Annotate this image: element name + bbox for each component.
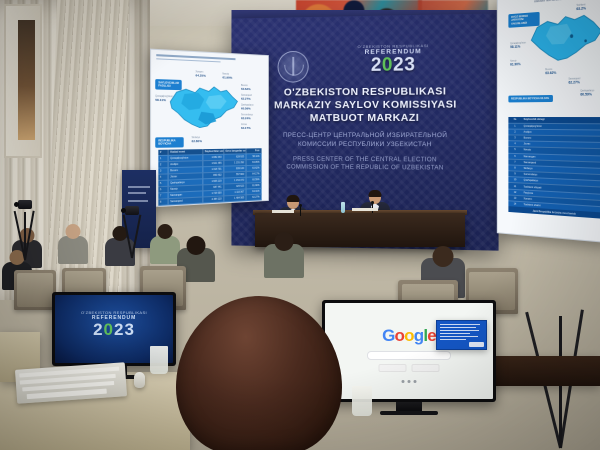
left-screen-results-table: # Hudud nomi Saylovchilar soni Ovoz berg… (158, 148, 261, 207)
left-map-pct-4: Samarqand62.27% (241, 95, 252, 101)
right-table-header: № Saylovoldi okrugi (508, 117, 600, 123)
feeling-lucky-button[interactable] (412, 364, 440, 372)
google-homepage-monitor[interactable]: Google (322, 300, 496, 402)
right-map-pct-1: Qoraqalpog'iston58.11% (510, 42, 526, 49)
google-buttons[interactable] (379, 364, 440, 372)
google-homepage: Google (325, 303, 493, 399)
audience-person-7-head (433, 246, 454, 267)
audience-person-5-head (275, 232, 294, 251)
right-screen-tag-status: OVOZ BERISH JARAYONI YAKUNLANDI (508, 12, 539, 28)
shortcut-icons[interactable] (402, 380, 417, 383)
referendum-screen-logo: O'ZBEKISTON RESPUBLIKASI REFERENDUM 2023 (55, 310, 173, 339)
backdrop-subtitle-ru-1: ПРЕСС-ЦЕНТР ЦЕНТРАЛЬНОЙ ИЗБИРАТЕЛЬНОЙ (251, 132, 482, 141)
right-map-pct-4: Samarqand62.27% (568, 78, 580, 84)
browser-dialog[interactable] (436, 320, 487, 350)
left-map-pct-5: Qashqadaryo60.59% (241, 105, 254, 111)
right-map-pct-0: Toshkent63.2% (576, 4, 586, 11)
drinking-cup (150, 346, 168, 374)
search-input[interactable] (367, 351, 451, 360)
google-search-button[interactable] (379, 364, 407, 372)
shortcut-icon[interactable] (414, 380, 417, 383)
referendum-logo: O'ZBEKISTON RESPUBLIKASI REFERENDUM 2023 (350, 43, 437, 75)
audience-chair (14, 270, 56, 310)
video-camera-tripod-left (14, 200, 36, 260)
backdrop-subtitle-russian: ПРЕСС-ЦЕНТР ЦЕНТРАЛЬНОЙ ИЗБИРАТЕЛЬНОЙ КО… (251, 132, 482, 150)
right-map-pct-2: Navoiy61.90% (510, 60, 520, 66)
video-camera-tripod-center (122, 206, 142, 258)
shortcut-icon[interactable] (402, 380, 405, 383)
backdrop-subtitle-english: PRESS CENTER OF THE CENTRAL ELECTION COM… (251, 156, 482, 174)
drinking-cup-right (352, 386, 372, 416)
left-map-pct-2: Navoiy61.90% (222, 73, 232, 79)
backdrop-title-line-2: MARKAZIY SAYLOV KOMISSIYASI (245, 98, 488, 112)
documents-on-table-right (352, 208, 378, 211)
left-map-pct-7: Jizzax64.17% (241, 124, 251, 130)
left-projection-screen: Qoraqalpog'iston58.11% Xorazm64.25% Navo… (150, 49, 269, 208)
right-screen-header: UMUMIY NATIJALAR (534, 0, 562, 3)
monitor-logo-top: O'ZBEKISTON RESPUBLIKASI (55, 310, 173, 315)
foreground-person-hair (176, 296, 342, 450)
press-conference-photo: O'ZBEKISTON RESPUBLIKASI REFERENDUM 2023… (0, 0, 600, 450)
left-map-pct-3: Buxoro63.62% (241, 85, 251, 91)
monitor-panel: Google (325, 303, 493, 399)
dialog-ok-button[interactable] (469, 342, 484, 347)
right-screen-region-table: № Saylovoldi okrugi 1Qoraqalpog'iston 2A… (508, 117, 600, 219)
right-screen-tag-republic-result: RESPUBLIKA BO'YICHA 62.34% (508, 95, 553, 103)
foreground-person (176, 296, 342, 450)
backdrop-subtitle-ru-2: КОМИССИИ РЕСПУБЛИКИ УЗБЕКИСТАН (251, 140, 482, 149)
cec-emblem-icon (278, 51, 309, 83)
backdrop-title-line-1: O'ZBEKISTON RESPUBLIKASI (245, 85, 488, 100)
monitor-base (380, 411, 438, 415)
audience-person-4-head (158, 224, 173, 239)
list-item: 1Qoraqalpog'iston (508, 122, 600, 129)
backdrop-title: O'ZBEKISTON RESPUBLIKASI MARKAZIY SAYLOV… (245, 85, 488, 125)
backdrop-title-line-3: MATBUOT MARKAZI (245, 112, 488, 126)
left-map-pct-8: Sirdaryo62.80% (192, 137, 202, 143)
video-camera-icon (125, 206, 139, 215)
shortcut-icon[interactable] (408, 380, 411, 383)
left-screen-header (156, 54, 263, 68)
door-frame (4, 4, 42, 158)
backdrop-subtitle-en-2: COMMISSION OF THE REPUBLIC OF UZBEKISTAN (251, 164, 482, 174)
google-logo: Google (382, 326, 436, 346)
right-map-pct-5: Qashqadaryo60.59% (580, 90, 594, 96)
left-screen-tag-activity: SAYLOVCHILAR FAOLLIGI (155, 79, 181, 91)
audience-person-2-head (66, 224, 81, 239)
left-map-pct-0: Qoraqalpog'iston58.11% (155, 96, 173, 103)
audience-person-2 (56, 224, 90, 270)
left-map-pct-1: Xorazm64.25% (196, 71, 206, 77)
audience-person-2-body (58, 236, 88, 264)
referendum-logo-year: 2023 (350, 55, 437, 75)
computer-mouse[interactable] (134, 372, 145, 388)
microphone-left-icon (300, 206, 301, 216)
right-projection-screen: UMUMIY NATIJALAR Toshkent63.2% Qoraqalpo… (497, 0, 600, 243)
documents-on-table (272, 210, 294, 213)
monitor-logo-year: 2023 (55, 321, 173, 339)
left-screen-tag-republic: RESPUBLIKA BO'YICHA (155, 137, 183, 148)
speaker-left-hair (287, 195, 300, 202)
video-camera-icon (18, 200, 32, 209)
left-map-pct-6: Surxondaryo63.24% (241, 114, 253, 120)
speaker-right-hair (369, 190, 382, 197)
water-bottle (341, 202, 345, 213)
audience-person-6-head (187, 236, 206, 255)
right-map-pct-3: Buxoro63.62% (545, 69, 556, 75)
door-glass (18, 20, 35, 140)
audience-person-5 (262, 232, 306, 288)
